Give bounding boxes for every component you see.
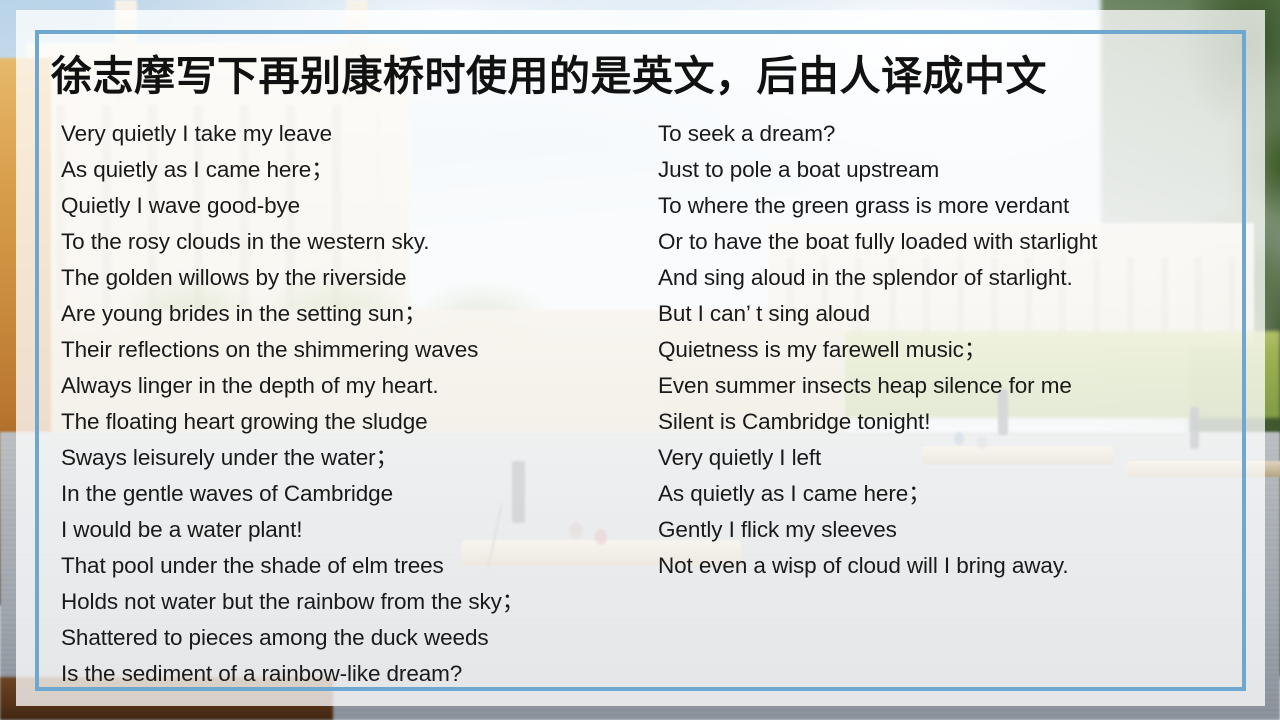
poem-line: Sways leisurely under the water； [61,440,635,476]
poem-line: To the rosy clouds in the western sky. [61,224,635,260]
poem-line: Their reflections on the shimmering wave… [61,332,635,368]
poem-line: I would be a water plant! [61,512,635,548]
poem-line: But I can’ t sing aloud [658,296,1235,332]
poem-line: As quietly as I came here； [61,152,635,188]
poem-line: Even summer insects heap silence for me [658,368,1235,404]
poem-line: Silent is Cambridge tonight! [658,404,1235,440]
poem-line: As quietly as I came here； [658,476,1235,512]
poem-line: To where the green grass is more verdant [658,188,1235,224]
poem-line: That pool under the shade of elm trees [61,548,635,584]
poem-line: Quietly I wave good-bye [61,188,635,224]
poem-line: Not even a wisp of cloud will I bring aw… [658,548,1235,584]
poem-line: Always linger in the depth of my heart. [61,368,635,404]
poem-line: And sing aloud in the splendor of starli… [658,260,1235,296]
poem-line: Very quietly I left [658,440,1235,476]
slide-content: 徐志摩写下再别康桥时使用的是英文，后由人译成中文 Very quietly I … [35,30,1246,691]
poem-line: In the gentle waves of Cambridge [61,476,635,512]
poem-line: Is the sediment of a rainbow-like dream? [61,656,635,692]
poem-line: Holds not water but the rainbow from the… [61,584,635,620]
poem-line: To seek a dream? [658,116,1235,152]
poem-line: Or to have the boat fully loaded with st… [658,224,1235,260]
poem-line: Gently I flick my sleeves [658,512,1235,548]
poem-right-column: To seek a dream? Just to pole a boat ups… [635,116,1235,692]
poem-line: Just to pole a boat upstream [658,152,1235,188]
poem-line: The golden willows by the riverside [61,260,635,296]
poem-left-column: Very quietly I take my leave As quietly … [35,116,635,692]
poem-line: Shattered to pieces among the duck weeds [61,620,635,656]
poem-line: Very quietly I take my leave [61,116,635,152]
page-title: 徐志摩写下再别康桥时使用的是英文，后由人译成中文 [51,54,1231,98]
poem-line: The floating heart growing the sludge [61,404,635,440]
poem-line: Are young brides in the setting sun； [61,296,635,332]
poem-line: Quietness is my farewell music； [658,332,1235,368]
poem-body: Very quietly I take my leave As quietly … [35,116,1246,692]
